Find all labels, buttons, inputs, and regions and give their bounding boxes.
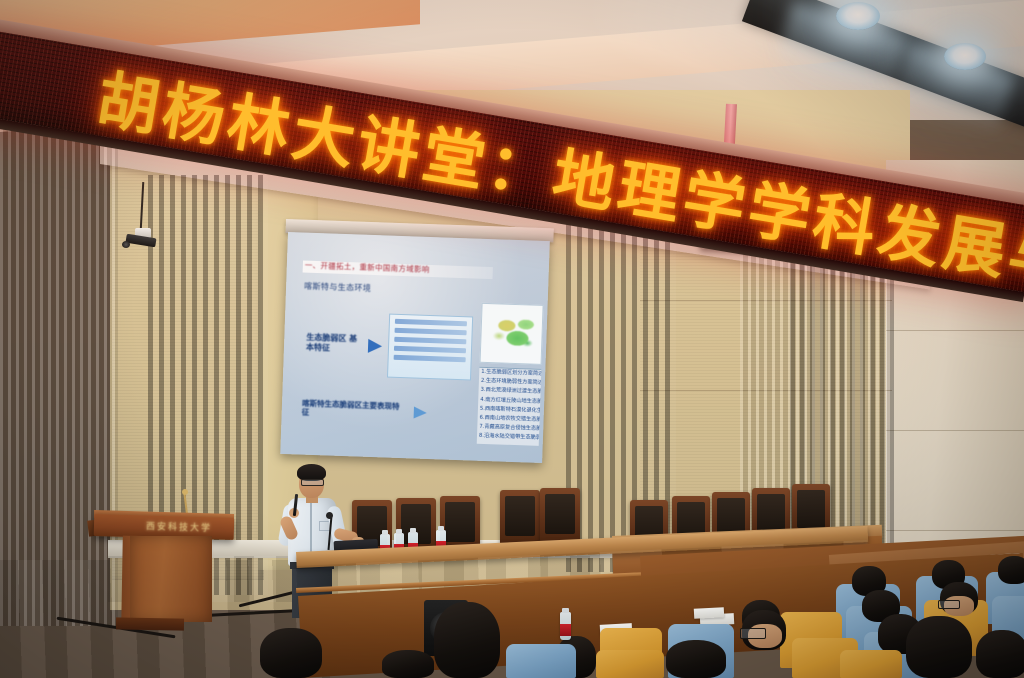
bottle-cap bbox=[410, 528, 416, 533]
bottle-cap bbox=[438, 526, 444, 531]
slide-bottom-label: 喀斯特生态脆弱区主要表现特征 bbox=[302, 399, 407, 421]
stage-chair-seatback bbox=[545, 494, 575, 534]
bottle-cap bbox=[562, 608, 569, 613]
podium-base bbox=[116, 617, 184, 630]
lecture-hall-photo: 一、开疆拓土，重新中国南方域影响 喀斯特与生态环境 生态脆弱区 基本特征 1.生… bbox=[0, 0, 1024, 678]
stage-chair-seatback bbox=[505, 496, 535, 536]
handout-paper bbox=[694, 607, 724, 619]
list-item: 8.沿海水陆交错带生态脆弱区 bbox=[477, 432, 539, 443]
podium-body bbox=[130, 536, 212, 622]
stage-chair-seatback bbox=[757, 494, 785, 532]
bottle-cap bbox=[396, 529, 402, 534]
microphone-head-icon bbox=[182, 489, 188, 495]
glasses-icon bbox=[740, 628, 766, 639]
podium-institution-plate: 西安科技大学 bbox=[140, 518, 218, 534]
ceiling-lamp-icon bbox=[944, 43, 986, 70]
audience-head bbox=[976, 630, 1024, 678]
audience-seat bbox=[596, 650, 664, 678]
stage-chair-seatback bbox=[445, 502, 475, 542]
audience-seat bbox=[506, 644, 576, 678]
wall-seam bbox=[886, 530, 1024, 531]
stage-chair-seatback bbox=[797, 490, 825, 528]
bottle-label bbox=[560, 624, 571, 636]
audience-head bbox=[906, 616, 972, 678]
audience-head bbox=[998, 556, 1024, 584]
water-bottle bbox=[560, 612, 571, 640]
glasses-icon bbox=[301, 479, 324, 486]
audience-head bbox=[434, 602, 500, 678]
glasses-icon bbox=[938, 600, 960, 609]
audience-seat bbox=[840, 650, 902, 678]
audience-head bbox=[666, 640, 726, 678]
slide-numbered-list: 1.生态脆弱区划分方案简述 2.生态环境脆弱性方案简述 3.西北荒漠绿洲过渡生态… bbox=[477, 367, 542, 446]
microphone-head-icon bbox=[326, 512, 333, 519]
bottle-cap bbox=[382, 530, 388, 535]
arrow-right-icon bbox=[414, 407, 427, 419]
ceiling-lamp-icon bbox=[836, 2, 880, 30]
audience-head bbox=[382, 650, 434, 678]
audience-head bbox=[260, 628, 322, 678]
